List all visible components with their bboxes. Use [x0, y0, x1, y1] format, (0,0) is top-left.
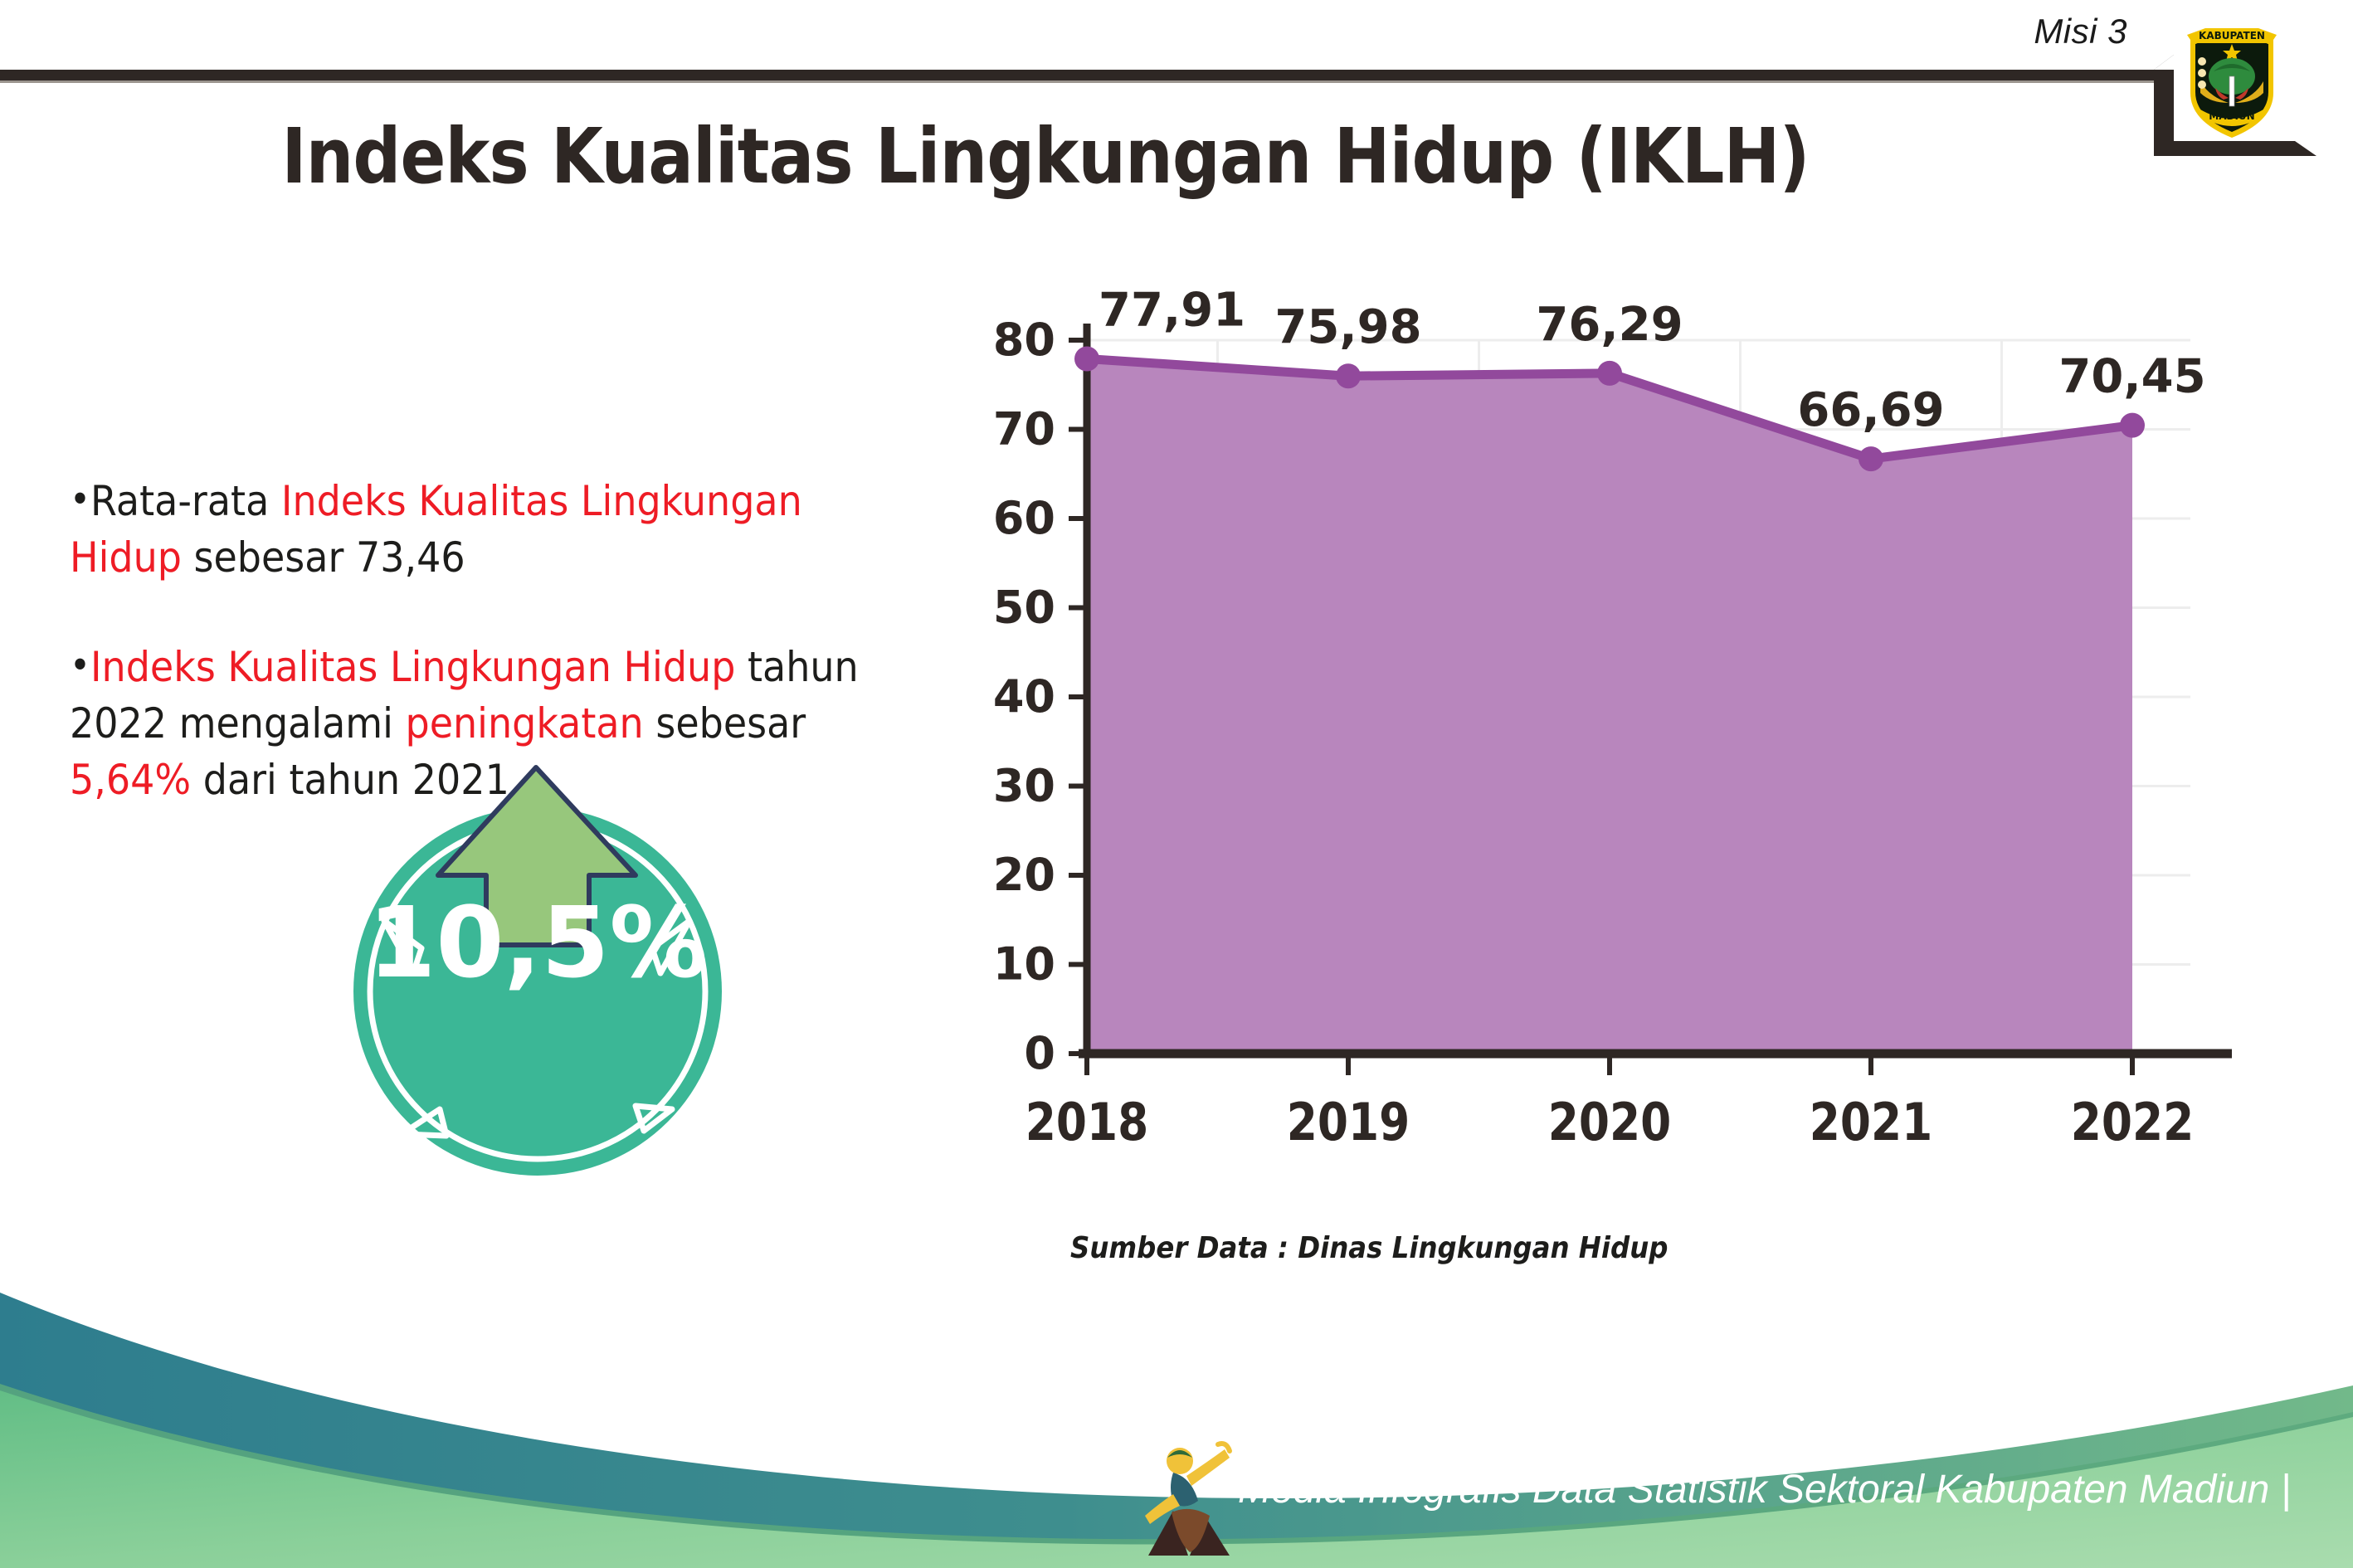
data-point-marker[interactable]: [2120, 413, 2145, 438]
data-point-label: 75,98: [1274, 300, 1421, 354]
dancer-figure-icon: [1143, 1439, 1235, 1564]
data-point-label: 66,69: [1797, 383, 1944, 437]
y-axis-tick-label: 70: [993, 403, 1055, 455]
data-point-label: 77,91: [1099, 290, 1245, 337]
svg-text:KABUPATEN: KABUPATEN: [2199, 30, 2265, 41]
y-axis-tick-label: 40: [993, 670, 1055, 723]
x-axis-tick-label: 2022: [2071, 1092, 2194, 1152]
data-point-label: 70,45: [2058, 350, 2205, 404]
x-axis-tick-label: 2019: [1287, 1092, 1410, 1152]
bullet-1-segment-0: Indeks Kualitas Lingkungan Hidup: [90, 643, 735, 691]
bullet-1-segment-3: sebesar: [644, 699, 806, 747]
kabupaten-madiun-crest-icon: KABUPATEN MADIUN: [2180, 17, 2283, 141]
x-axis-tick-label: 2018: [1025, 1092, 1148, 1152]
bullet-1-segment-2: peningkatan: [406, 699, 644, 747]
y-axis-tick-label: 50: [993, 582, 1055, 634]
y-axis-tick-label: 80: [993, 314, 1055, 366]
data-point-marker[interactable]: [1336, 363, 1361, 388]
badge-percent-text: 10,5%: [368, 885, 707, 1000]
x-axis-tick-label: 2020: [1548, 1092, 1671, 1152]
iklh-area-chart: 010203040506070802018201920202021202277,…: [954, 290, 2232, 1203]
chart-area-fill: [1087, 358, 2132, 1054]
footer-caption: Media Infografis Data Statistik Sektoral…: [1238, 1467, 2291, 1512]
increase-badge: 10,5%: [322, 743, 753, 1182]
bullet-1-segment-4: 5,64%: [70, 756, 191, 804]
data-point-marker[interactable]: [1597, 361, 1622, 386]
bullet-0-segment-2: sebesar 73,46: [182, 533, 465, 582]
svg-text:MADIUN: MADIUN: [2209, 110, 2254, 122]
chart-source-note: Sumber Data : Dinas Lingkungan Hidup: [1070, 1231, 1668, 1265]
y-axis-tick-label: 10: [993, 938, 1055, 991]
y-axis-tick-label: 60: [993, 492, 1055, 544]
mission-label: Misi 3: [2034, 12, 2127, 51]
data-point-marker[interactable]: [1074, 346, 1099, 371]
y-axis-tick-label: 0: [1024, 1027, 1055, 1079]
y-axis-tick-label: 20: [993, 849, 1055, 901]
bullet-0-segment-0: Rata-rata: [90, 477, 281, 525]
chart-canvas: 010203040506070802018201920202021202277,…: [954, 290, 2232, 1203]
data-point-label: 76,29: [1536, 298, 1683, 352]
data-point-marker[interactable]: [1859, 446, 1883, 471]
y-axis-tick-label: 30: [993, 760, 1055, 812]
header-rule: [0, 70, 2161, 80]
page-title: Indeks Kualitas Lingkungan Hidup (IKLH): [125, 112, 1966, 201]
list-item: •Rata-rata Indeks Kualitas Lingkungan Hi…: [70, 473, 894, 586]
x-axis-tick-label: 2021: [1810, 1092, 1932, 1152]
bullet-dot: •: [70, 476, 90, 521]
bullet-text-0: Rata-rata Indeks Kualitas Lingkungan Hid…: [70, 477, 802, 582]
bullet-dot: •: [70, 642, 90, 687]
